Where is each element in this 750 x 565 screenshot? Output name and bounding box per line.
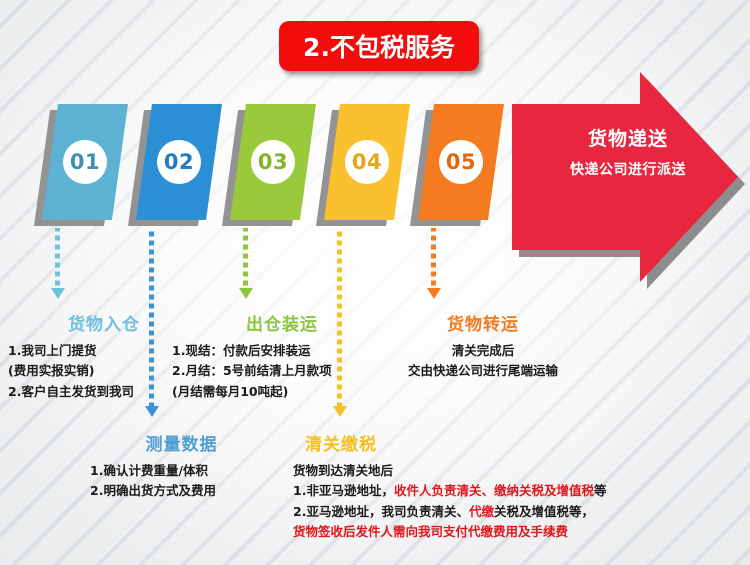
connector-3 [243, 228, 248, 299]
callout-ship-out-line-2: 2.月结：5号前结清上月款项 [172, 361, 392, 381]
arrow-title: 货物递送 [528, 124, 728, 151]
callout-customs-heading: 清关缴税 [293, 430, 606, 455]
callout-customs-line-3-part-b: 代缴 [469, 504, 494, 519]
callout-ship-out: 出仓装运 1.现结：付款后安排装运 2.月结：5号前结清上月款项 (月结需每月1… [172, 310, 392, 402]
callout-transfer-line-2: 交由快递公司进行尾端运输 [383, 361, 583, 381]
callout-customs-line-2: 1.非亚马逊地址，收件人负责清关、缴纳关税及增值税等 [293, 481, 606, 501]
callout-transfer: 货物转运 清关完成后 交由快递公司进行尾端运输 [383, 310, 583, 382]
callout-measure: 测量数据 1.确认计费重量/体积 2.明确出货方式及费用 [90, 430, 279, 502]
callout-measure-heading: 测量数据 [84, 430, 279, 455]
step-number-2: 02 [157, 140, 201, 184]
step-number-3: 03 [251, 140, 295, 184]
callout-ship-out-line-1: 1.现结：付款后安排装运 [172, 341, 392, 361]
callout-measure-line-1: 1.确认计费重量/体积 [90, 461, 279, 481]
callout-measure-line-2: 2.明确出货方式及费用 [90, 481, 279, 501]
callout-customs-line-3: 2.亚马逊地址，我司负责清关、代缴关税及增值税等， [293, 502, 606, 522]
callout-ship-out-line-3: (月结需每月10吨起) [172, 382, 392, 402]
step-number-5: 05 [439, 140, 483, 184]
page-title: 2.不包税服务 [303, 28, 455, 64]
callout-customs-line-2-part-a: 1.非亚马逊地址， [293, 483, 394, 498]
title-banner: 2.不包税服务 [279, 21, 479, 71]
callout-customs-line-1: 货物到达清关地后 [293, 461, 606, 481]
callout-transfer-heading: 货物转运 [383, 310, 583, 335]
callout-customs-line-3-part-a: 2.亚马逊地址，我司负责清关、 [293, 504, 469, 519]
callout-customs-line-2-part-c: 等 [594, 483, 607, 498]
callout-customs-line-2-part-b: 收件人负责清关、缴纳关税及增值税 [394, 483, 594, 498]
connector-1 [55, 228, 60, 299]
step-number-1: 01 [63, 140, 107, 184]
step-number-4: 04 [345, 140, 389, 184]
callout-ship-out-heading: 出仓装运 [172, 310, 392, 335]
callout-customs-line-3-part-c: 关税及增值税等， [494, 504, 594, 519]
connector-5 [431, 228, 436, 299]
callout-transfer-line-1: 清关完成后 [383, 341, 583, 361]
callout-customs: 清关缴税 货物到达清关地后 1.非亚马逊地址，收件人负责清关、缴纳关税及增值税等… [293, 430, 606, 542]
arrow-label-group: 货物递送 快递公司进行派送 [528, 124, 728, 179]
callout-customs-line-4: 货物签收后发件人需向我司支付代缴费用及手续费 [293, 522, 606, 542]
arrow-subtitle: 快递公司进行派送 [528, 159, 728, 179]
